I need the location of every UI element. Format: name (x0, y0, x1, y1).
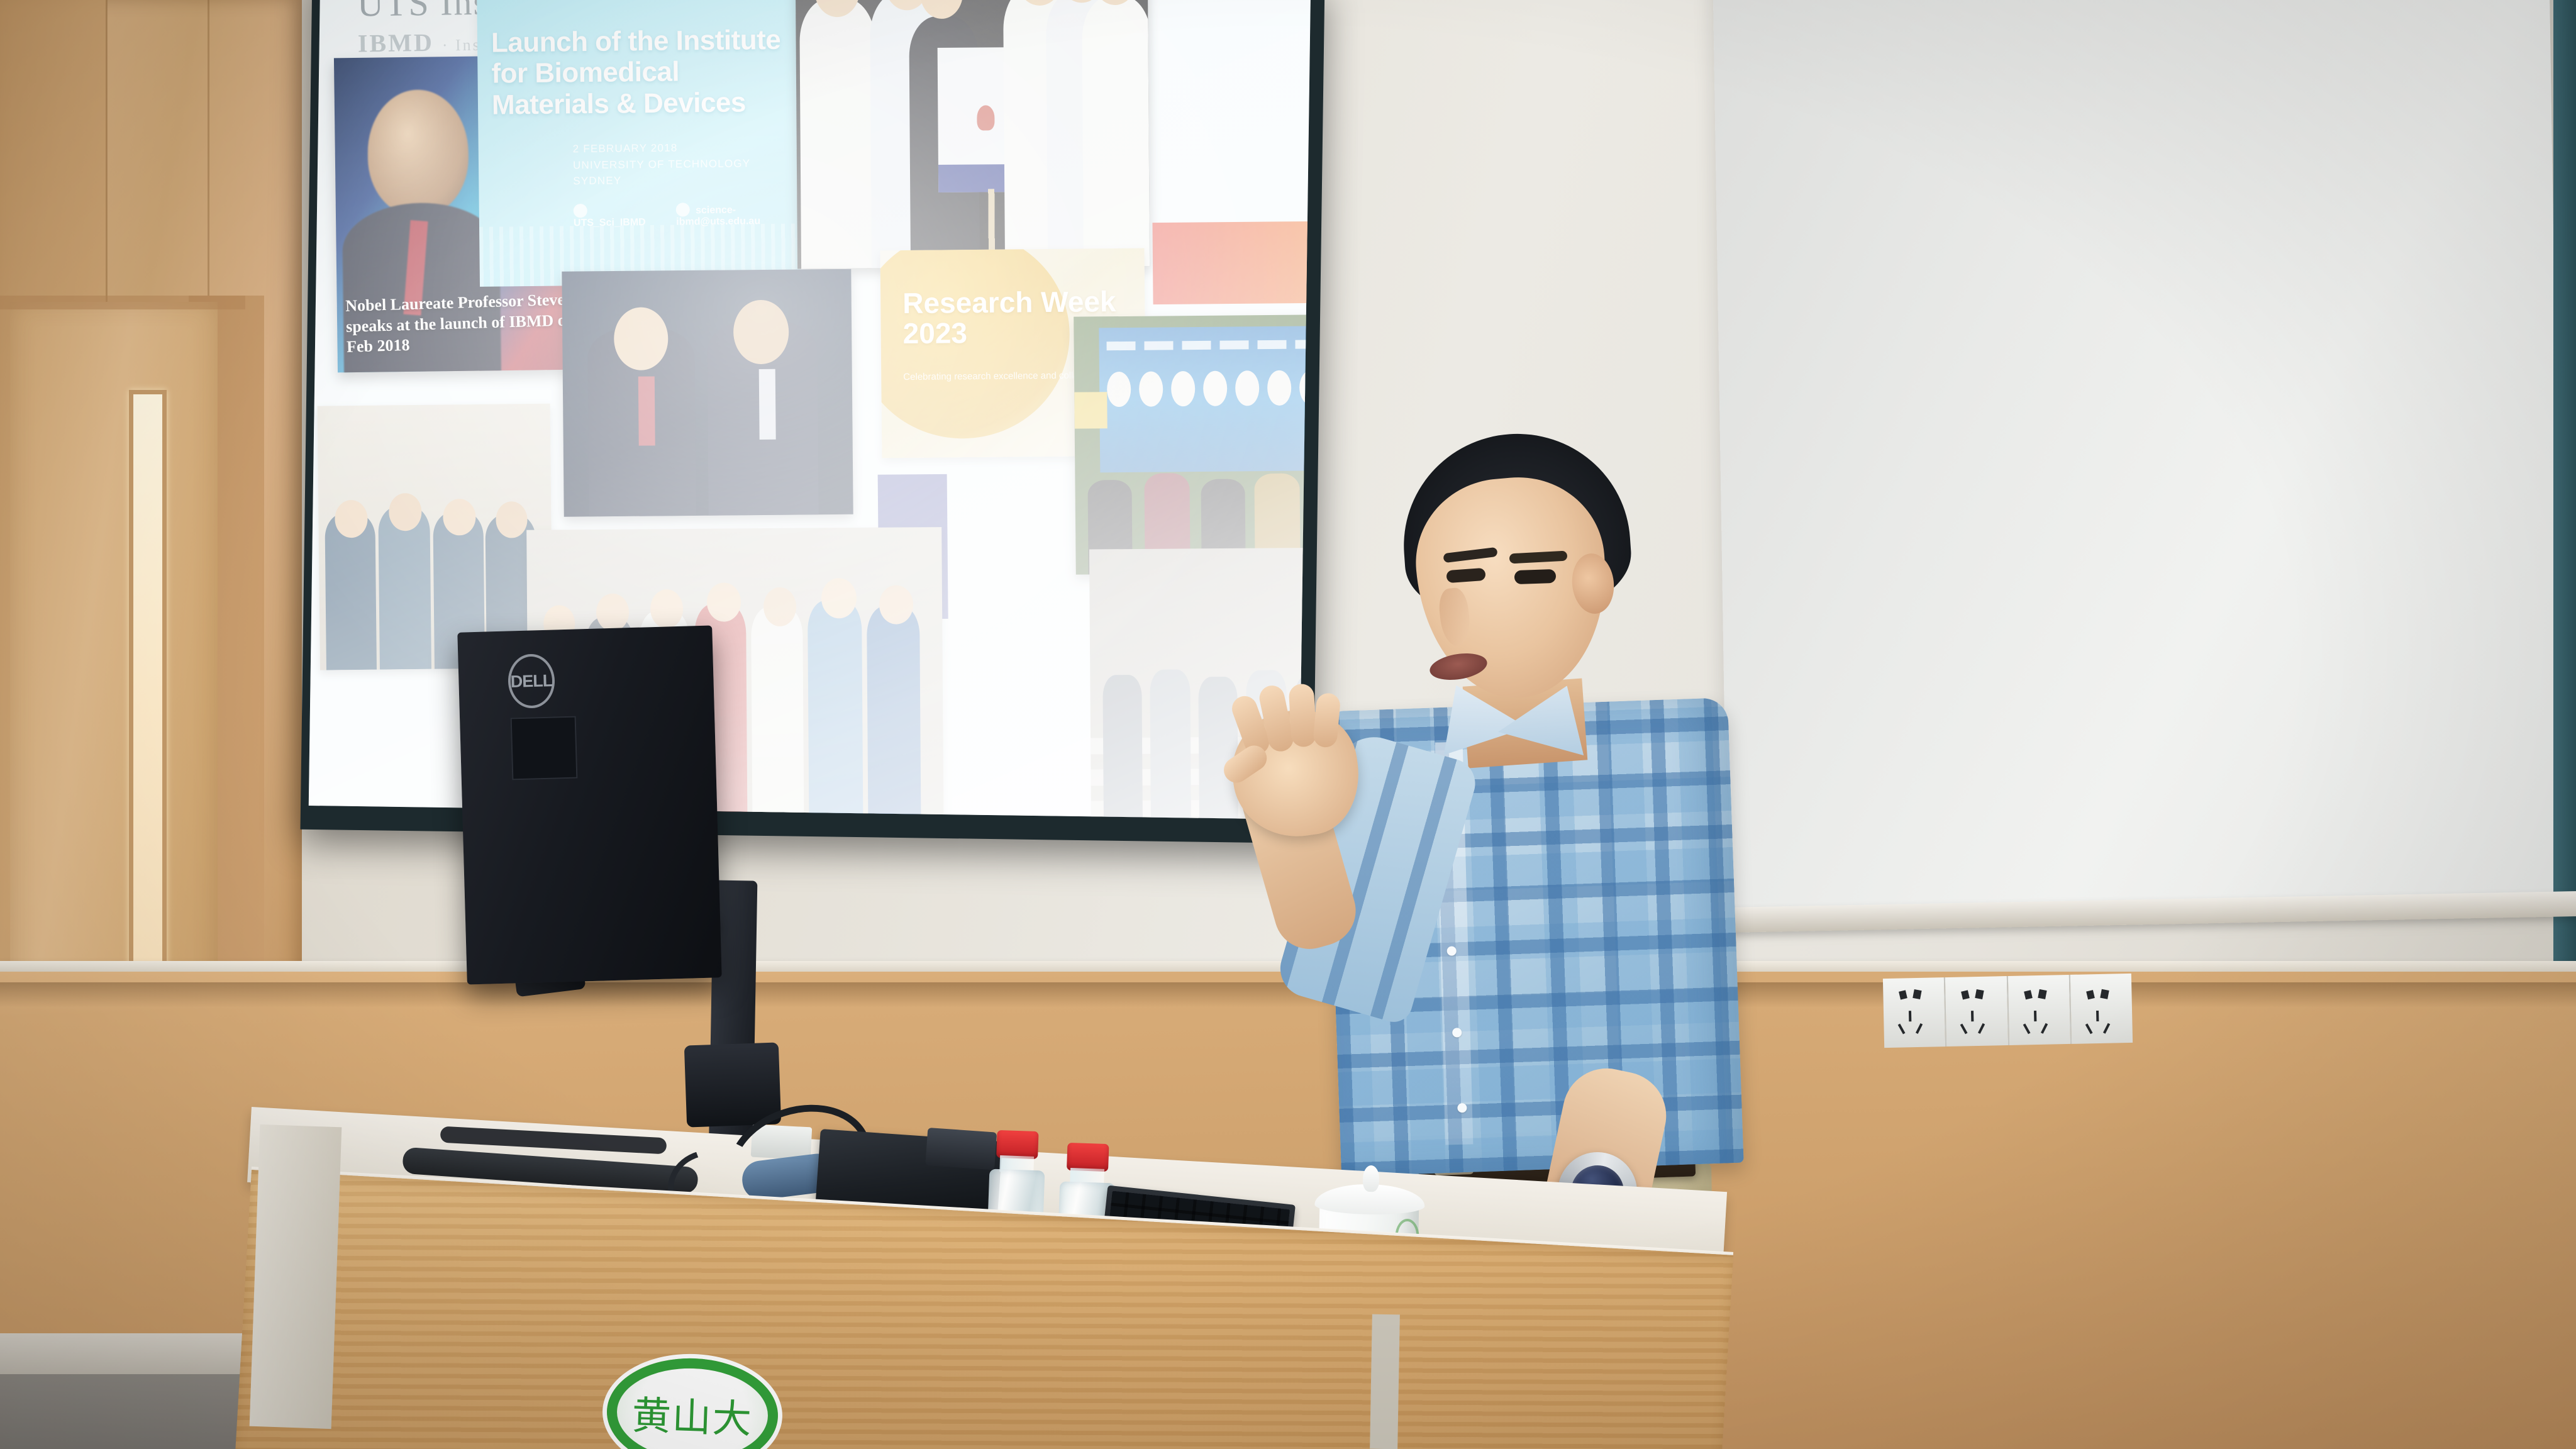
finger (1313, 692, 1341, 748)
outlet-socket[interactable] (1883, 977, 1947, 1048)
finger (1289, 684, 1317, 748)
easel-logo (977, 105, 994, 130)
lecture-room-photo: Wooden door with vertical glass viewing … (0, 0, 2576, 1449)
wall-outlet-panel[interactable] (1883, 974, 2133, 1048)
slide-tile-launch-banner: Launch of the Institute for Biomedical M… (477, 0, 801, 287)
vesa-mount-plate (511, 716, 578, 780)
launch-org: UNIVERSITY OF TECHNOLOGY SYDNEY (573, 155, 800, 189)
whiteboard (1713, 0, 2564, 918)
slide-header-code: IBMD (358, 28, 435, 58)
launch-title: Launch of the Institute for Biomedical M… (491, 25, 791, 121)
desk-unit-handset[interactable] (925, 1128, 997, 1170)
tea-cup-lid-knob[interactable] (1363, 1165, 1380, 1192)
door-frame (0, 296, 245, 309)
projected-slide-header (1107, 339, 1311, 350)
projected-tab (1074, 392, 1108, 428)
portrait-head (367, 89, 469, 216)
computer-monitor[interactable] (457, 625, 721, 984)
monitor-arm-clamp[interactable] (684, 1042, 781, 1127)
twitter-icon (574, 204, 587, 218)
projected-avatar-row (1107, 369, 1311, 407)
right-wall-edge (2553, 0, 2576, 981)
wood-seam (208, 0, 209, 296)
podium-side-panel (250, 1124, 342, 1429)
outlet-socket[interactable] (2007, 975, 2072, 1045)
podium-leg (1370, 1314, 1400, 1449)
outlet-socket[interactable] (1945, 976, 2009, 1046)
slide-tile-accent-strip (1152, 221, 1311, 304)
slide-tile-two-men (562, 269, 853, 517)
launch-date: 2 FEBRUARY 2018 (573, 138, 799, 157)
slide-tile-lab-group (318, 404, 553, 670)
emblem-text: 黄山大 (631, 1384, 753, 1445)
speaker-eye-right (1514, 569, 1557, 584)
slide-tile-easel-group (796, 0, 1150, 269)
launch-meta: 2 FEBRUARY 2018 UNIVERSITY OF TECHNOLOGY… (573, 138, 800, 189)
email-icon (676, 203, 690, 216)
outlet-socket[interactable] (2070, 974, 2133, 1044)
